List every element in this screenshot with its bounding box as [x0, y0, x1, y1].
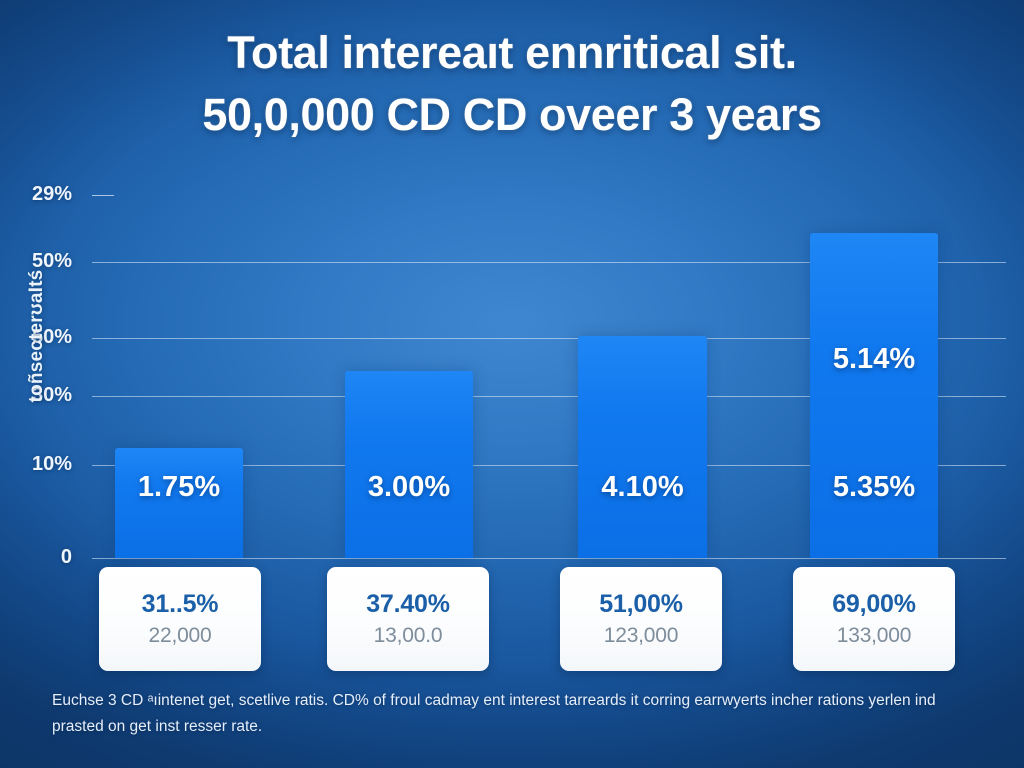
summary-card-4[interactable]: 69,00% 133,000 [793, 567, 955, 671]
gridline-0 [92, 195, 114, 196]
summary-cards: 31..5% 22,000 37.40% 13,00.0 51,00% 123,… [0, 567, 1024, 671]
bar-3[interactable]: 4.10% [578, 336, 707, 558]
summary-card-4-sub: 133,000 [837, 624, 912, 648]
summary-card-1-sub: 22,000 [148, 624, 211, 648]
bar-2[interactable]: 3.00% [345, 371, 473, 558]
summary-card-2-sub: 13,00.0 [374, 624, 443, 648]
summary-card-2-value: 37.40% [366, 590, 450, 619]
bar-1[interactable]: 1.75% [115, 448, 243, 558]
summary-card-3-sub: 123,000 [604, 624, 679, 648]
summary-card-4-value: 69,00% [832, 590, 916, 619]
chart-title: Total intereaıt ennritical sit. 50,0,000… [0, 22, 1024, 145]
bar-3-value: 4.10% [578, 471, 707, 504]
bar-4-upper-value: 5.14% [810, 343, 938, 376]
footnote-text: Euchse 3 CD ᵃıintenet get, scetlive rati… [52, 688, 967, 739]
summary-card-3[interactable]: 51,00% 123,000 [560, 567, 722, 671]
chart-title-line-2: 50,0,000 CD CD oveer 3 years [0, 84, 1024, 146]
bar-4-value: 5.35% [810, 471, 938, 504]
plot-area: toñsecterʊaItś 29% 50% 50% 30% 10% 0 1. [0, 160, 1024, 570]
y-tick-label-5: 0 [0, 546, 72, 569]
chart-title-line-1: Total intereaıt ennritical sit. [0, 22, 1024, 84]
bar-4[interactable]: 5.14% 5.35% [810, 233, 938, 558]
summary-card-2[interactable]: 37.40% 13,00.0 [327, 567, 489, 671]
summary-card-3-value: 51,00% [599, 590, 683, 619]
summary-card-1-value: 31..5% [142, 590, 219, 619]
y-tick-label-0: 29% [0, 183, 72, 206]
y-tick-label-4: 10% [0, 453, 72, 476]
chart-poster: Total intereaıt ennritical sit. 50,0,000… [0, 0, 1024, 768]
y-axis-title: toñsecterʊaItś [26, 231, 48, 441]
bar-1-value: 1.75% [115, 471, 243, 504]
bar-2-value: 3.00% [345, 471, 473, 504]
summary-card-1[interactable]: 31..5% 22,000 [99, 567, 261, 671]
gridline-5 [92, 558, 1006, 559]
